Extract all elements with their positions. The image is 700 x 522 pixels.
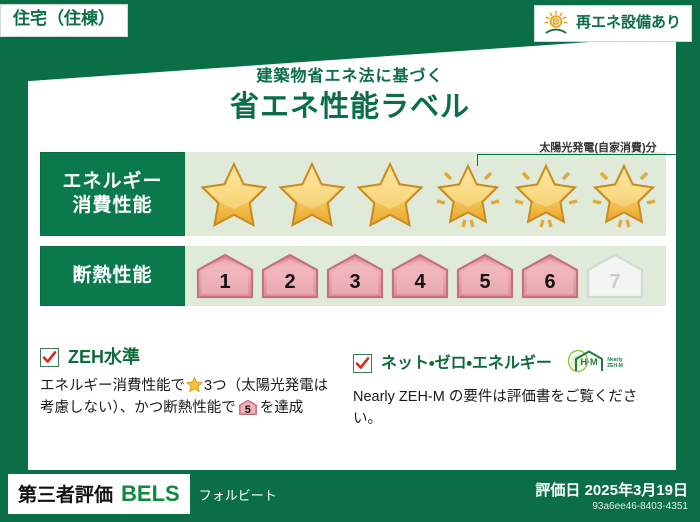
zeh-body-part3: を達成 xyxy=(260,400,304,416)
energy-performance-label: エネルギー 消費性能 xyxy=(40,152,185,236)
zeh-standard-block: ZEH水準 エネルギー消費性能で3つ（太陽光発電は考慮しない）、かつ断熱性能で5… xyxy=(40,348,353,430)
evaluation-date: 評価日 2025年3月19日 xyxy=(535,479,688,500)
footer-left: 第三者評価 BELS フォルビート xyxy=(8,474,277,514)
grade-number: 2 xyxy=(260,271,320,294)
star-icon-inline xyxy=(186,376,203,393)
bels-jp-label: 第三者評価 xyxy=(18,480,113,507)
insulation-grade-badge: 6 xyxy=(520,253,580,299)
star-icon-solar xyxy=(507,157,585,231)
svg-text:H·M: H·M xyxy=(580,357,597,367)
zeh-standard-heading: ZEH水準 xyxy=(40,348,339,368)
star-icon-solar xyxy=(585,157,663,231)
bels-logo-text: BELS xyxy=(121,481,180,507)
energy-performance-body: 太陽光発電(自家消費)分 xyxy=(185,152,666,236)
renewable-equipment-badge: 再エネ設備あり xyxy=(534,5,692,42)
zeh-standard-body: エネルギー消費性能で3つ（太陽光発電は考慮しない）、かつ断熱性能で5を達成 xyxy=(40,375,339,419)
star-icon-solar xyxy=(429,157,507,231)
explanation-section: ZEH水準 エネルギー消費性能で3つ（太陽光発電は考慮しない）、かつ断熱性能で5… xyxy=(40,348,666,430)
insulation-grade-badge: 3 xyxy=(325,253,385,299)
energy-label-line2: 消費性能 xyxy=(72,194,152,218)
star-icon xyxy=(273,157,351,231)
svg-text:ZEH-M: ZEH-M xyxy=(607,363,623,369)
insulation-grade-badge: 4 xyxy=(390,253,450,299)
energy-label-card: 住宅（住棟） 再エネ設備あり 建築物省エネ法に基づく 省エ xyxy=(0,0,700,522)
housing-type-tag: 住宅（住棟） xyxy=(0,4,128,37)
solar-sun-icon xyxy=(543,10,569,36)
grade-number: 3 xyxy=(325,271,385,294)
performance-rows: エネルギー 消費性能 太陽光発電(自家消費)分 xyxy=(40,152,666,316)
housing-type-label: 住宅（住棟） xyxy=(13,9,115,28)
star-icon xyxy=(195,157,273,231)
star-icon xyxy=(351,157,429,231)
insulation-grade-badge: 5 xyxy=(455,253,515,299)
check-icon xyxy=(353,354,372,373)
solar-annotation-label: 太陽光発電(自家消費)分 xyxy=(475,139,700,155)
solar-annotation-bracket xyxy=(477,154,700,166)
net-zero-energy-heading: ネット・ゼロ・エネルギー H·M Nearly ZEH-M xyxy=(353,348,652,379)
insulation-performance-label: 断熱性能 xyxy=(40,246,185,306)
label-title: 省エネ性能ラベル xyxy=(0,83,700,125)
evaluation-id: 93a6ee46-8403-4351 xyxy=(535,501,688,512)
star-rating xyxy=(189,157,666,231)
insulation-grade-badge-inactive: 7 xyxy=(585,253,645,299)
grade-number: 1 xyxy=(195,271,255,294)
net-zero-energy-body: Nearly ZEH-M の要件は評価書をご覧ください。 xyxy=(353,386,652,430)
grade-number: 5 xyxy=(455,271,515,294)
renewable-badge-label: 再エネ設備あり xyxy=(576,15,681,32)
footer-right: 評価日 2025年3月19日 93a6ee46-8403-4351 xyxy=(535,479,688,512)
grade-number: 6 xyxy=(520,271,580,294)
grade-number: 7 xyxy=(585,271,645,294)
insulation-grade-scale: 1 2 3 xyxy=(195,253,645,299)
grade-number: 4 xyxy=(390,271,450,294)
check-icon xyxy=(40,348,59,367)
insulation-grade-badge: 1 xyxy=(195,253,255,299)
net-zero-energy-block: ネット・ゼロ・エネルギー H·M Nearly ZEH-M Nearly ZEH… xyxy=(353,348,666,430)
nearly-zeh-m-logo: H·M Nearly ZEH-M xyxy=(565,348,627,379)
zeh-body-part1: エネルギー消費性能で xyxy=(40,378,185,394)
insulation-grade-badge: 2 xyxy=(260,253,320,299)
insulation-performance-row: 断熱性能 1 xyxy=(40,246,666,306)
brand-name: フォルビート xyxy=(199,485,277,504)
net-zero-energy-title: ネット・ゼロ・エネルギー xyxy=(381,355,552,373)
evaluation-date-label: 評価日 xyxy=(535,482,580,499)
inline-grade-number: 5 xyxy=(238,405,258,416)
energy-performance-row: エネルギー 消費性能 太陽光発電(自家消費)分 xyxy=(40,152,666,236)
bels-certification-box: 第三者評価 BELS xyxy=(8,474,190,514)
evaluation-date-value: 2025年3月19日 xyxy=(585,482,688,499)
zeh-standard-title: ZEH水準 xyxy=(68,348,140,368)
energy-label-line1: エネルギー xyxy=(62,170,162,194)
house-icon-inline: 5 xyxy=(238,399,258,416)
insulation-performance-body: 1 2 3 xyxy=(185,246,666,306)
insulation-label-line1: 断熱性能 xyxy=(72,264,152,288)
